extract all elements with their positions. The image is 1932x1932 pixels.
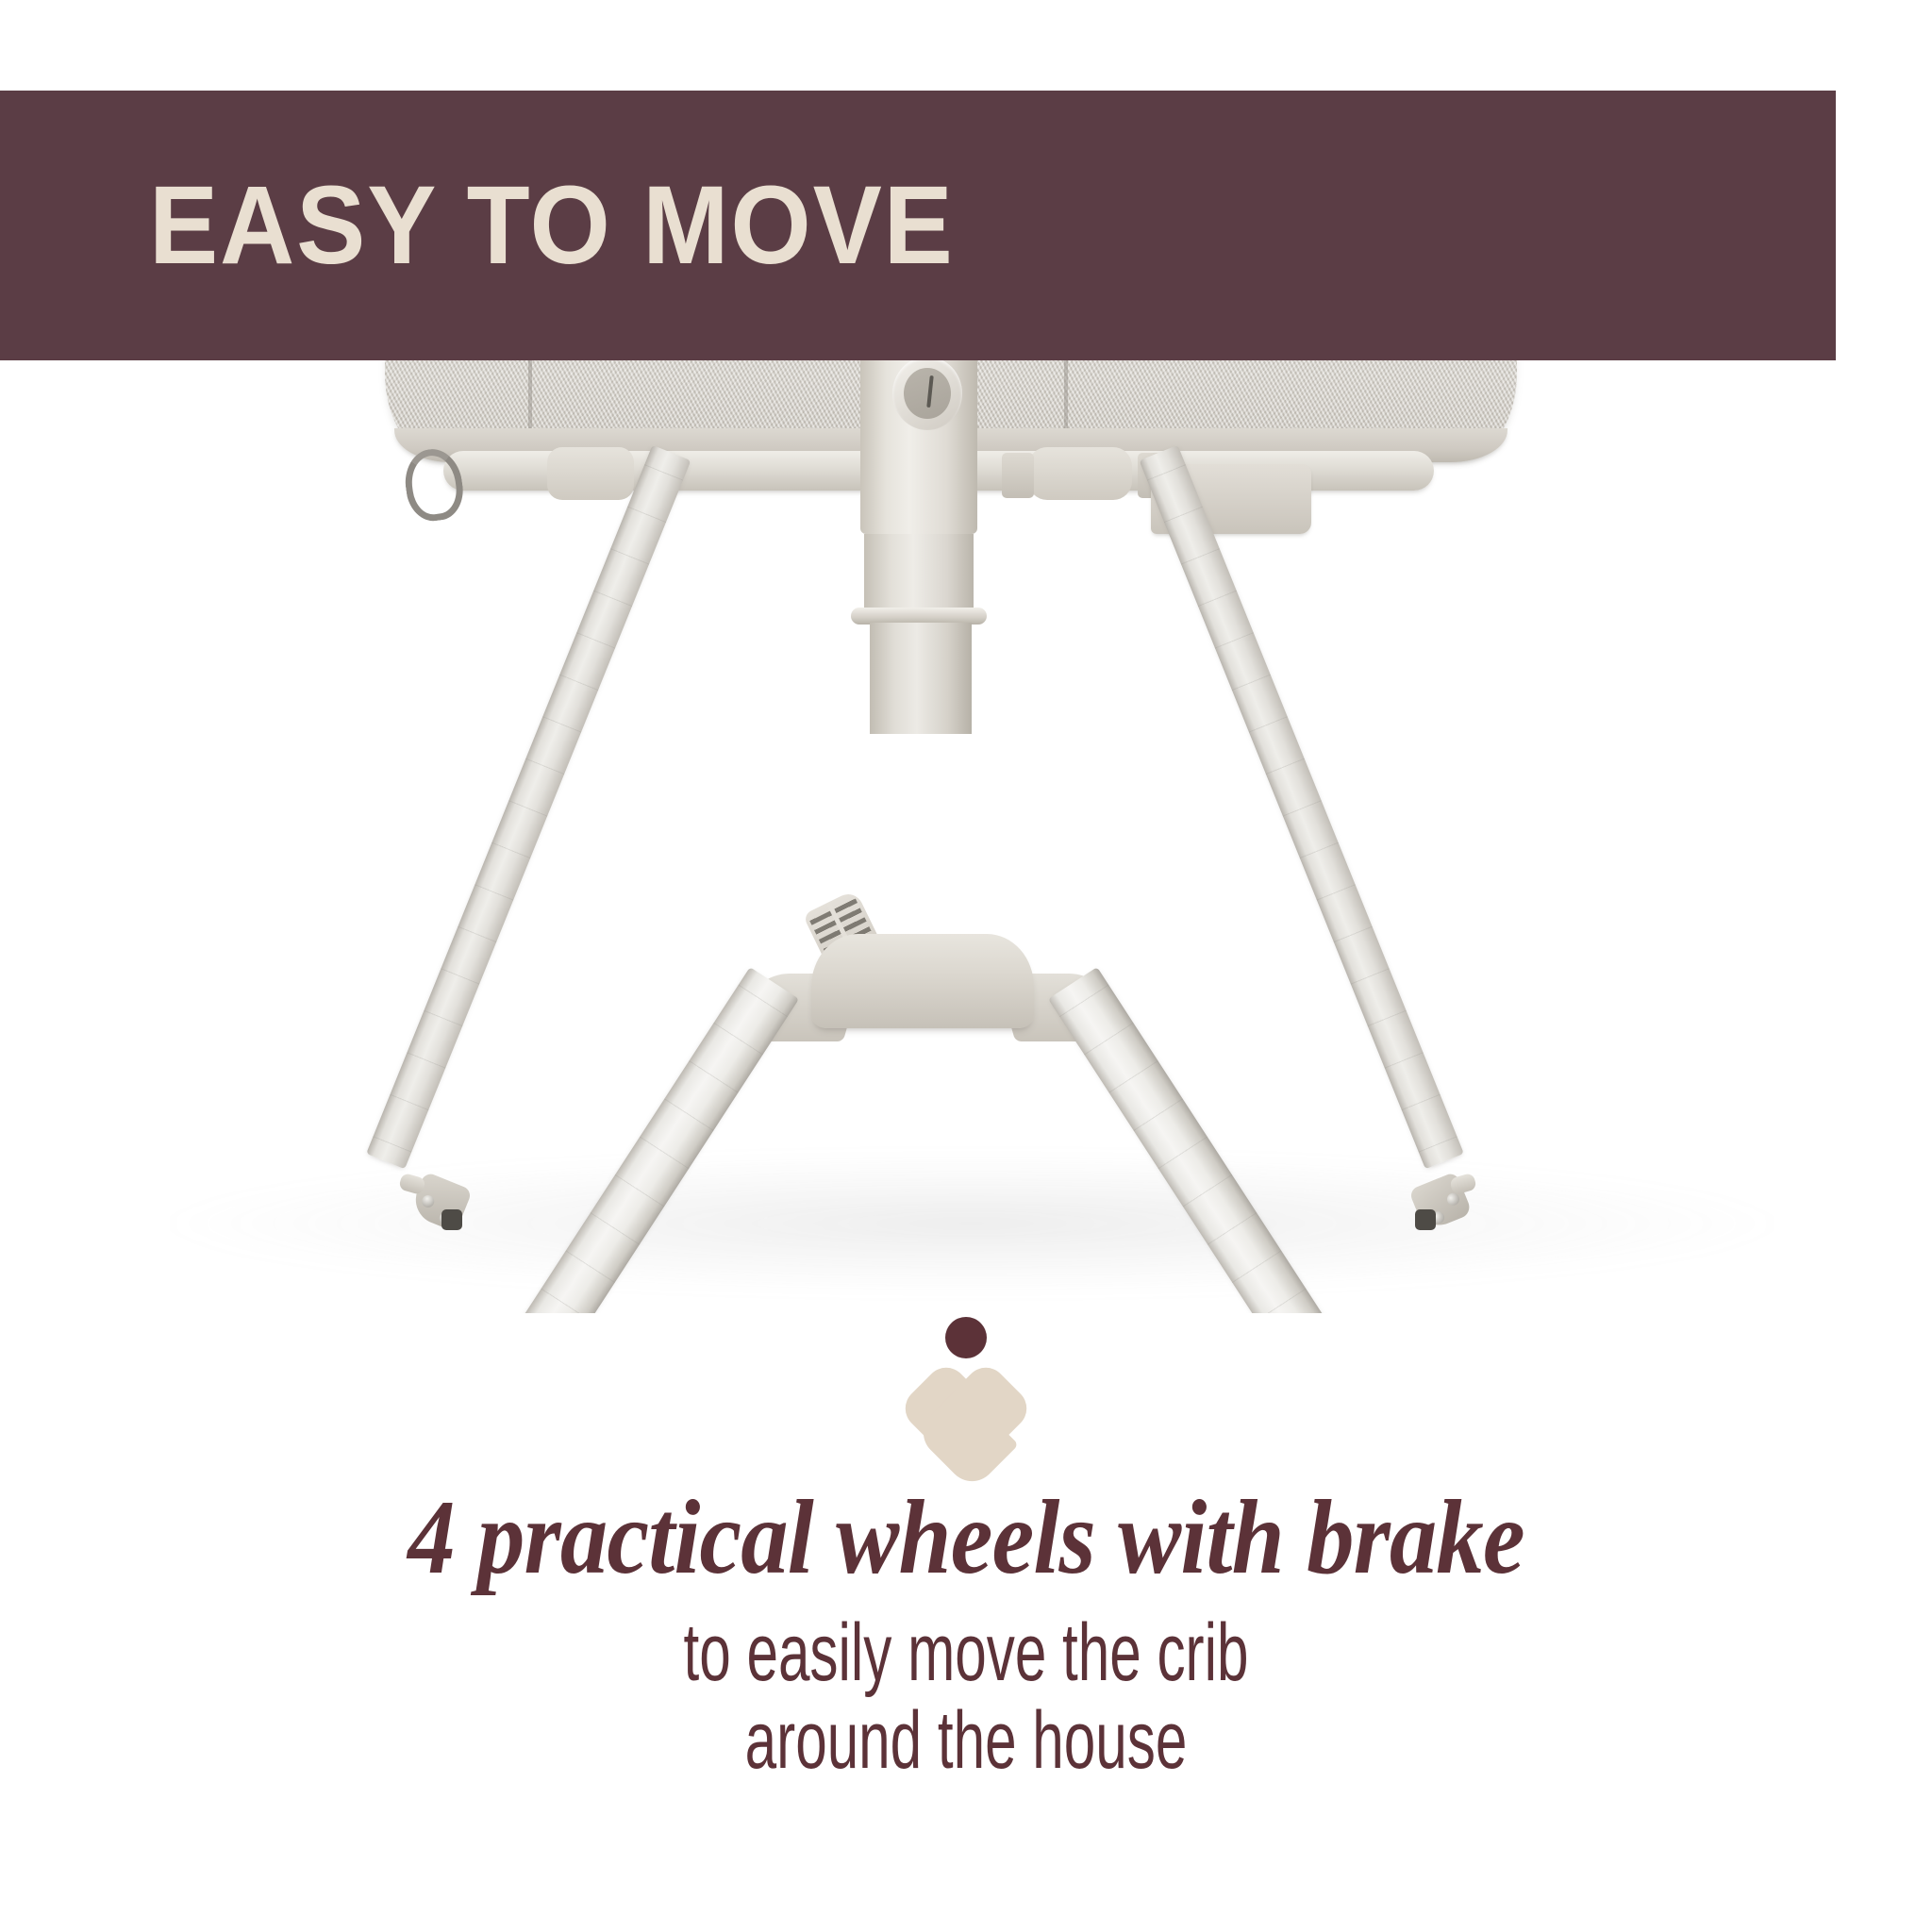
caption-subline-1: to easily move the crib <box>290 1609 1642 1697</box>
banner-title: EASY TO MOVE <box>149 170 955 281</box>
tube-cap-left <box>547 447 634 500</box>
leg-back-left <box>366 445 691 1170</box>
caption-subline-2: around the house <box>290 1697 1642 1785</box>
caption-headline: 4 practical wheels with brake <box>96 1483 1835 1592</box>
tube-bracket-1 <box>1002 453 1034 498</box>
caster-back-left <box>441 1209 462 1230</box>
brand-mark <box>0 1317 1932 1468</box>
caster-back-right <box>1415 1209 1436 1230</box>
brand-dot-icon <box>945 1317 987 1358</box>
center-post-lower <box>870 623 972 734</box>
brand-heart-icon <box>911 1374 1021 1472</box>
product-photo <box>0 360 1932 1313</box>
leg-back-right <box>1140 445 1464 1170</box>
center-post-mid <box>864 534 974 613</box>
tube-cap-right <box>1028 447 1132 500</box>
marketing-slide: EASY TO MOVE <box>0 0 1932 1932</box>
caption-sublines: to easily move the crib around the house <box>290 1609 1642 1785</box>
leg-hub <box>811 934 1034 1028</box>
caption-block: 4 practical wheels with brake to easily … <box>0 1483 1932 1785</box>
header-banner: EASY TO MOVE <box>0 91 1836 360</box>
